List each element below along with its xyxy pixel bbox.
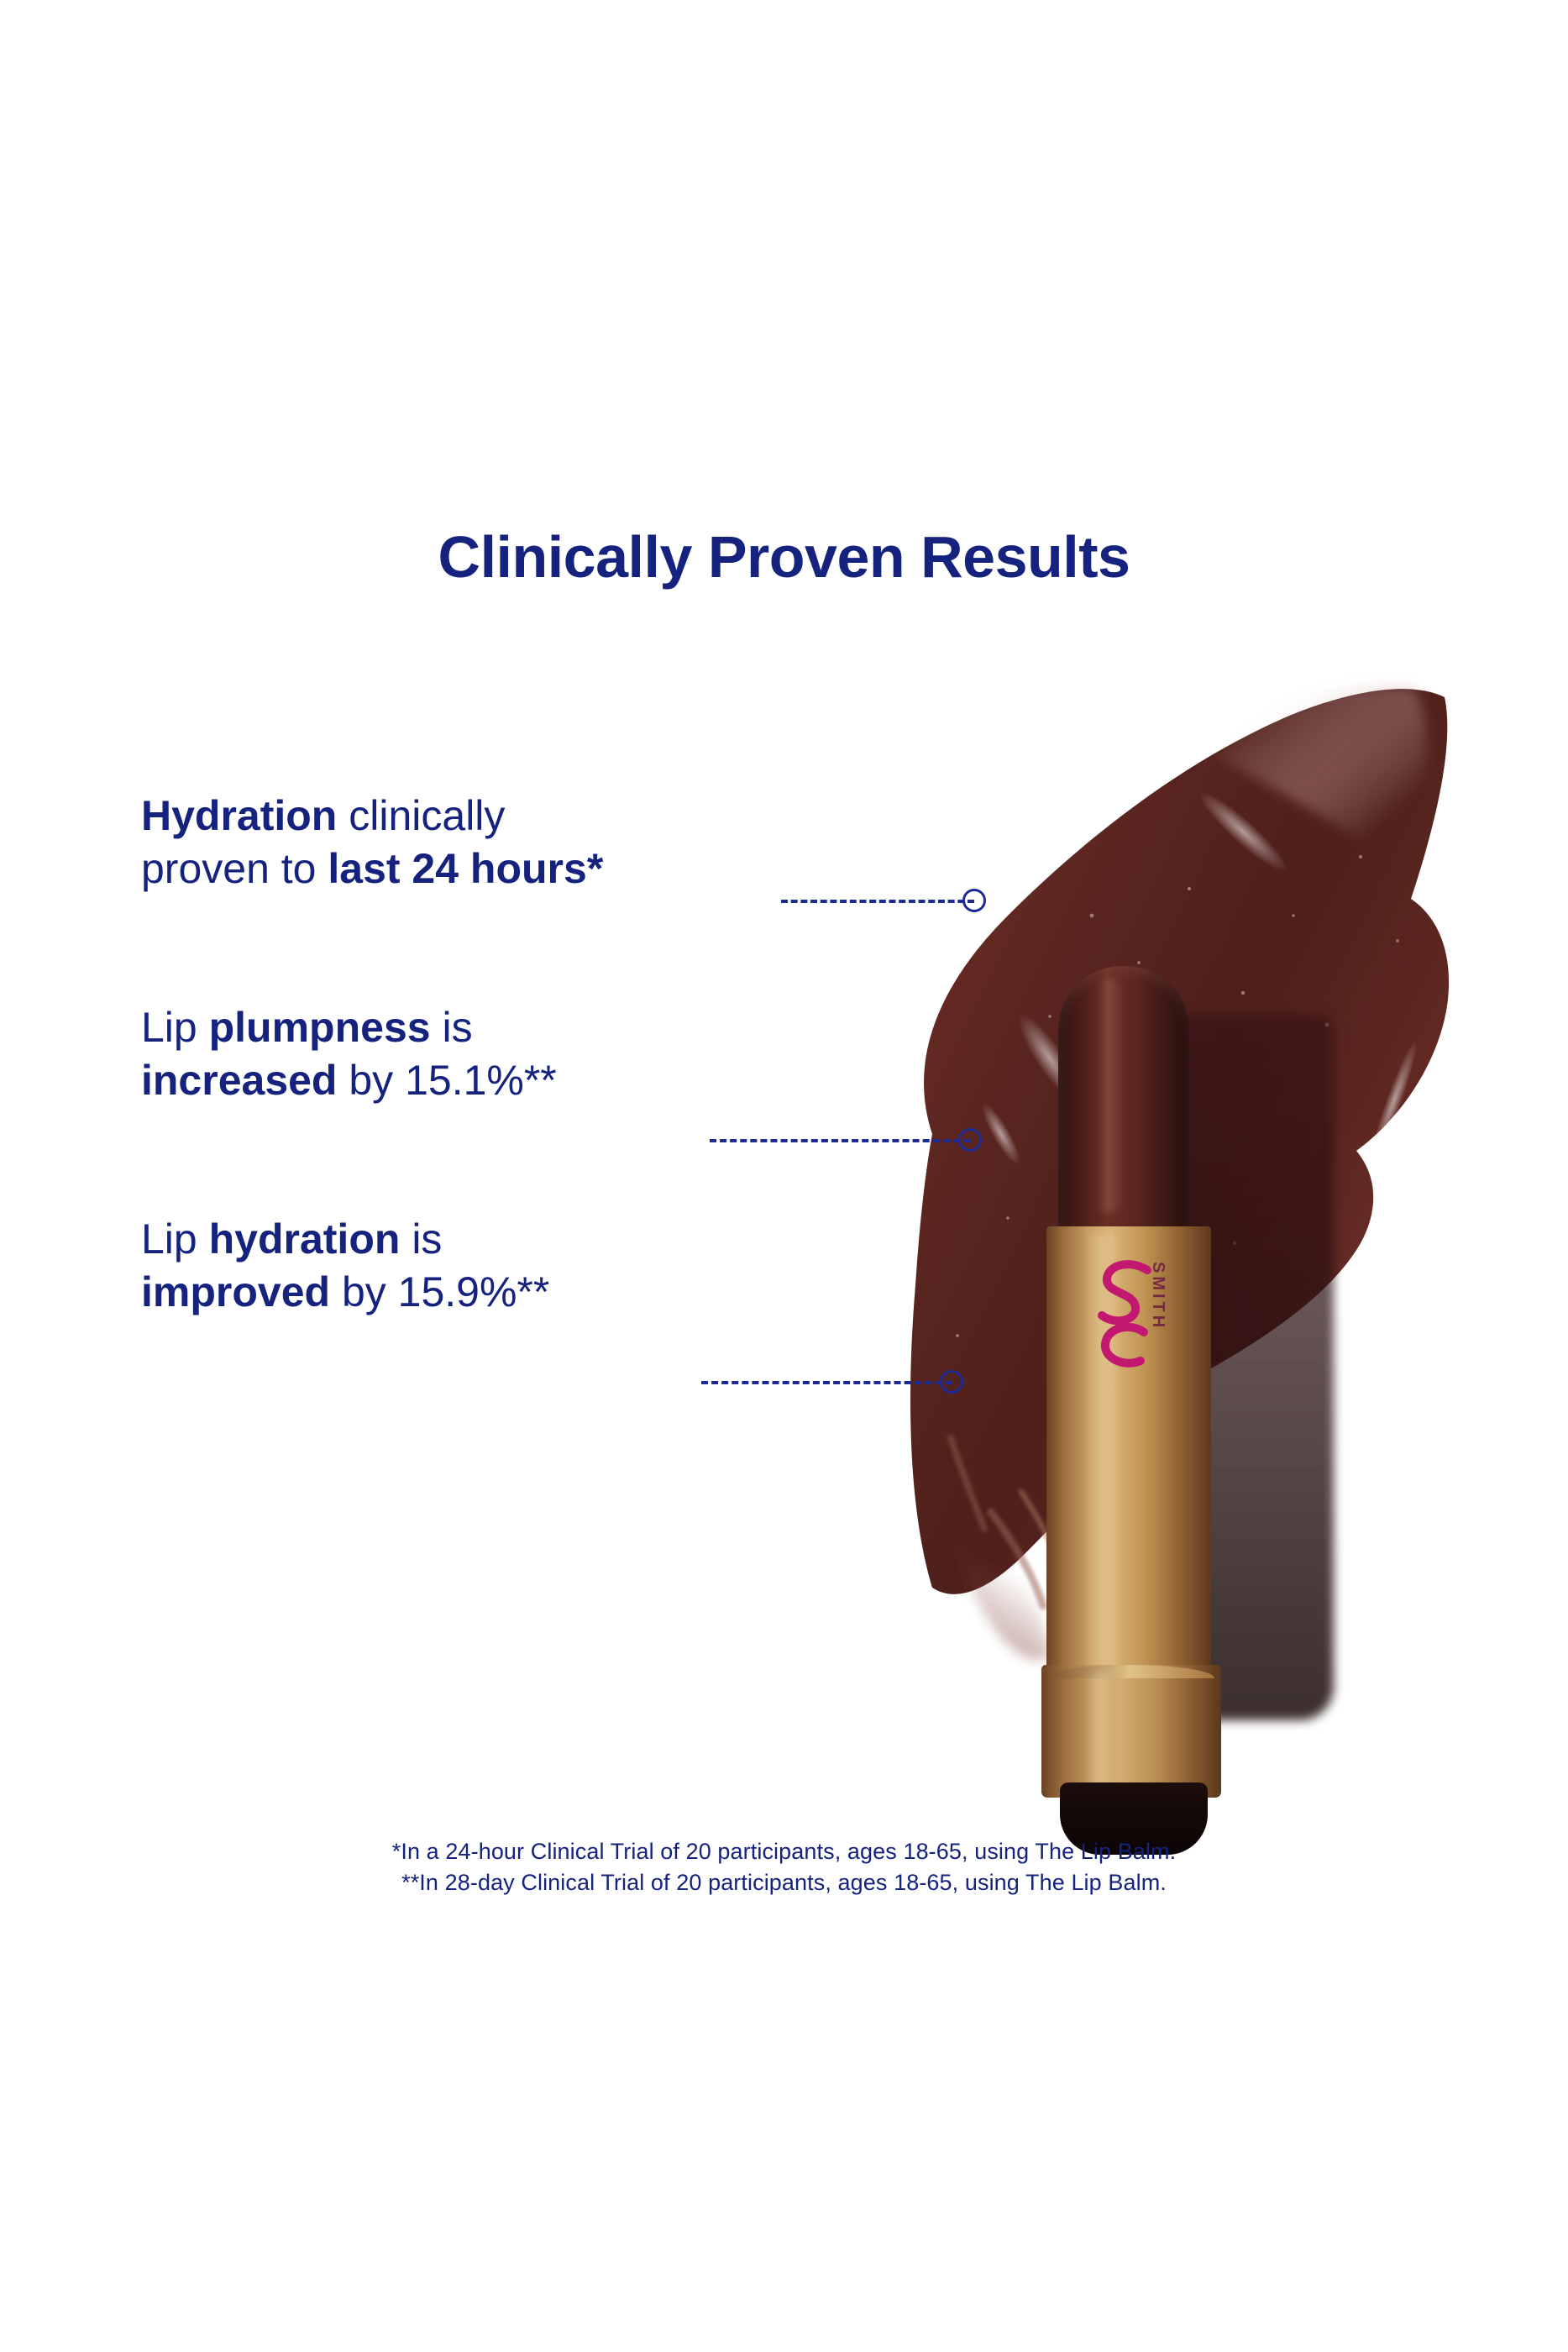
brand-vertical-text: SMITH <box>1148 1262 1167 1331</box>
footnote-block: *In a 24-hour Clinical Trial of 20 parti… <box>0 1836 1568 1898</box>
claim-hydration-24h: Hydration clinicallyproven to last 24 ho… <box>141 790 830 895</box>
product-base-collar <box>1041 1665 1221 1798</box>
claim-text-segment: hydration <box>209 1215 401 1263</box>
cap-highlight <box>1095 978 1124 1213</box>
page-title: Clinically Proven Results <box>0 528 1568 586</box>
lip-balm-product: SMITH <box>1041 966 1344 1730</box>
claim-text-segment: clinically <box>349 792 505 839</box>
marketing-claims-panel: SMITH Clinically Proven Results Hydratio… <box>0 0 1568 2352</box>
claim-text-segment: by 15.1%** <box>337 1057 556 1104</box>
claim-lip-hydration: Lip hydration isimproved by 15.9%** <box>141 1213 830 1319</box>
footnote-1: *In a 24-hour Clinical Trial of 20 parti… <box>0 1836 1568 1867</box>
sc-monogram-logo <box>1082 1252 1183 1378</box>
claim-text-segment: is <box>400 1215 442 1263</box>
claim-text-segment: increased <box>141 1057 337 1104</box>
footnote-2: **In 28-day Clinical Trial of 20 partici… <box>0 1867 1568 1898</box>
claims-list: Hydration clinicallyproven to last 24 ho… <box>141 790 830 1319</box>
claim-text-segment: by 15.9%** <box>330 1268 549 1315</box>
claim-text-segment: proven to <box>141 845 328 892</box>
claim-text-segment: plumpness <box>209 1004 431 1051</box>
claim-text-segment: Lip <box>141 1004 209 1051</box>
claim-text-segment: improved <box>141 1268 330 1315</box>
collar-rim <box>1046 1665 1214 1678</box>
sc-logo-icon <box>1082 1252 1183 1378</box>
claim-text-segment: is <box>431 1004 473 1051</box>
collar-highlight <box>1085 1672 1115 1789</box>
claim-lip-plumpness: Lip plumpness isincreased by 15.1%** <box>141 1001 830 1107</box>
claim-text-segment: Hydration <box>141 792 349 839</box>
claim-text-segment: last 24 hours* <box>328 845 603 892</box>
product-cap <box>1058 966 1189 1243</box>
claim-text-segment: Lip <box>141 1215 209 1263</box>
